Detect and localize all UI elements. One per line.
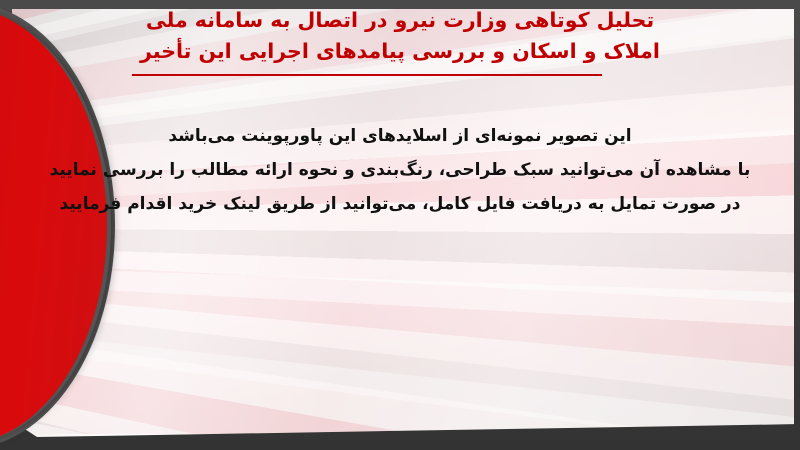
slide-body-line-3: در صورت تمایل به دریافت فایل کامل، می‌تو…	[0, 187, 800, 221]
slide-body-line-2: با مشاهده آن می‌توانید سبک طراحی، رنگ‌بن…	[0, 153, 800, 187]
slide-title-underline	[132, 74, 602, 76]
slide-title-line-1: تحلیل کوتاهی وزارت نیرو در اتصال به ساما…	[0, 5, 800, 36]
slide-content: تحلیل کوتاهی وزارت نیرو در اتصال به ساما…	[0, 0, 800, 450]
slide-body-text: این تصویر نمونه‌ای از اسلایدهای این پاور…	[0, 119, 800, 221]
slide-title-line-2: املاک و اسکان و بررسی پیامدهای اجرایی ای…	[138, 36, 662, 69]
slide-title: تحلیل کوتاهی وزارت نیرو در اتصال به ساما…	[0, 5, 800, 69]
slide-body-line-1: این تصویر نمونه‌ای از اسلایدهای این پاور…	[0, 119, 800, 153]
presentation-slide: تحلیل کوتاهی وزارت نیرو در اتصال به ساما…	[0, 0, 800, 450]
